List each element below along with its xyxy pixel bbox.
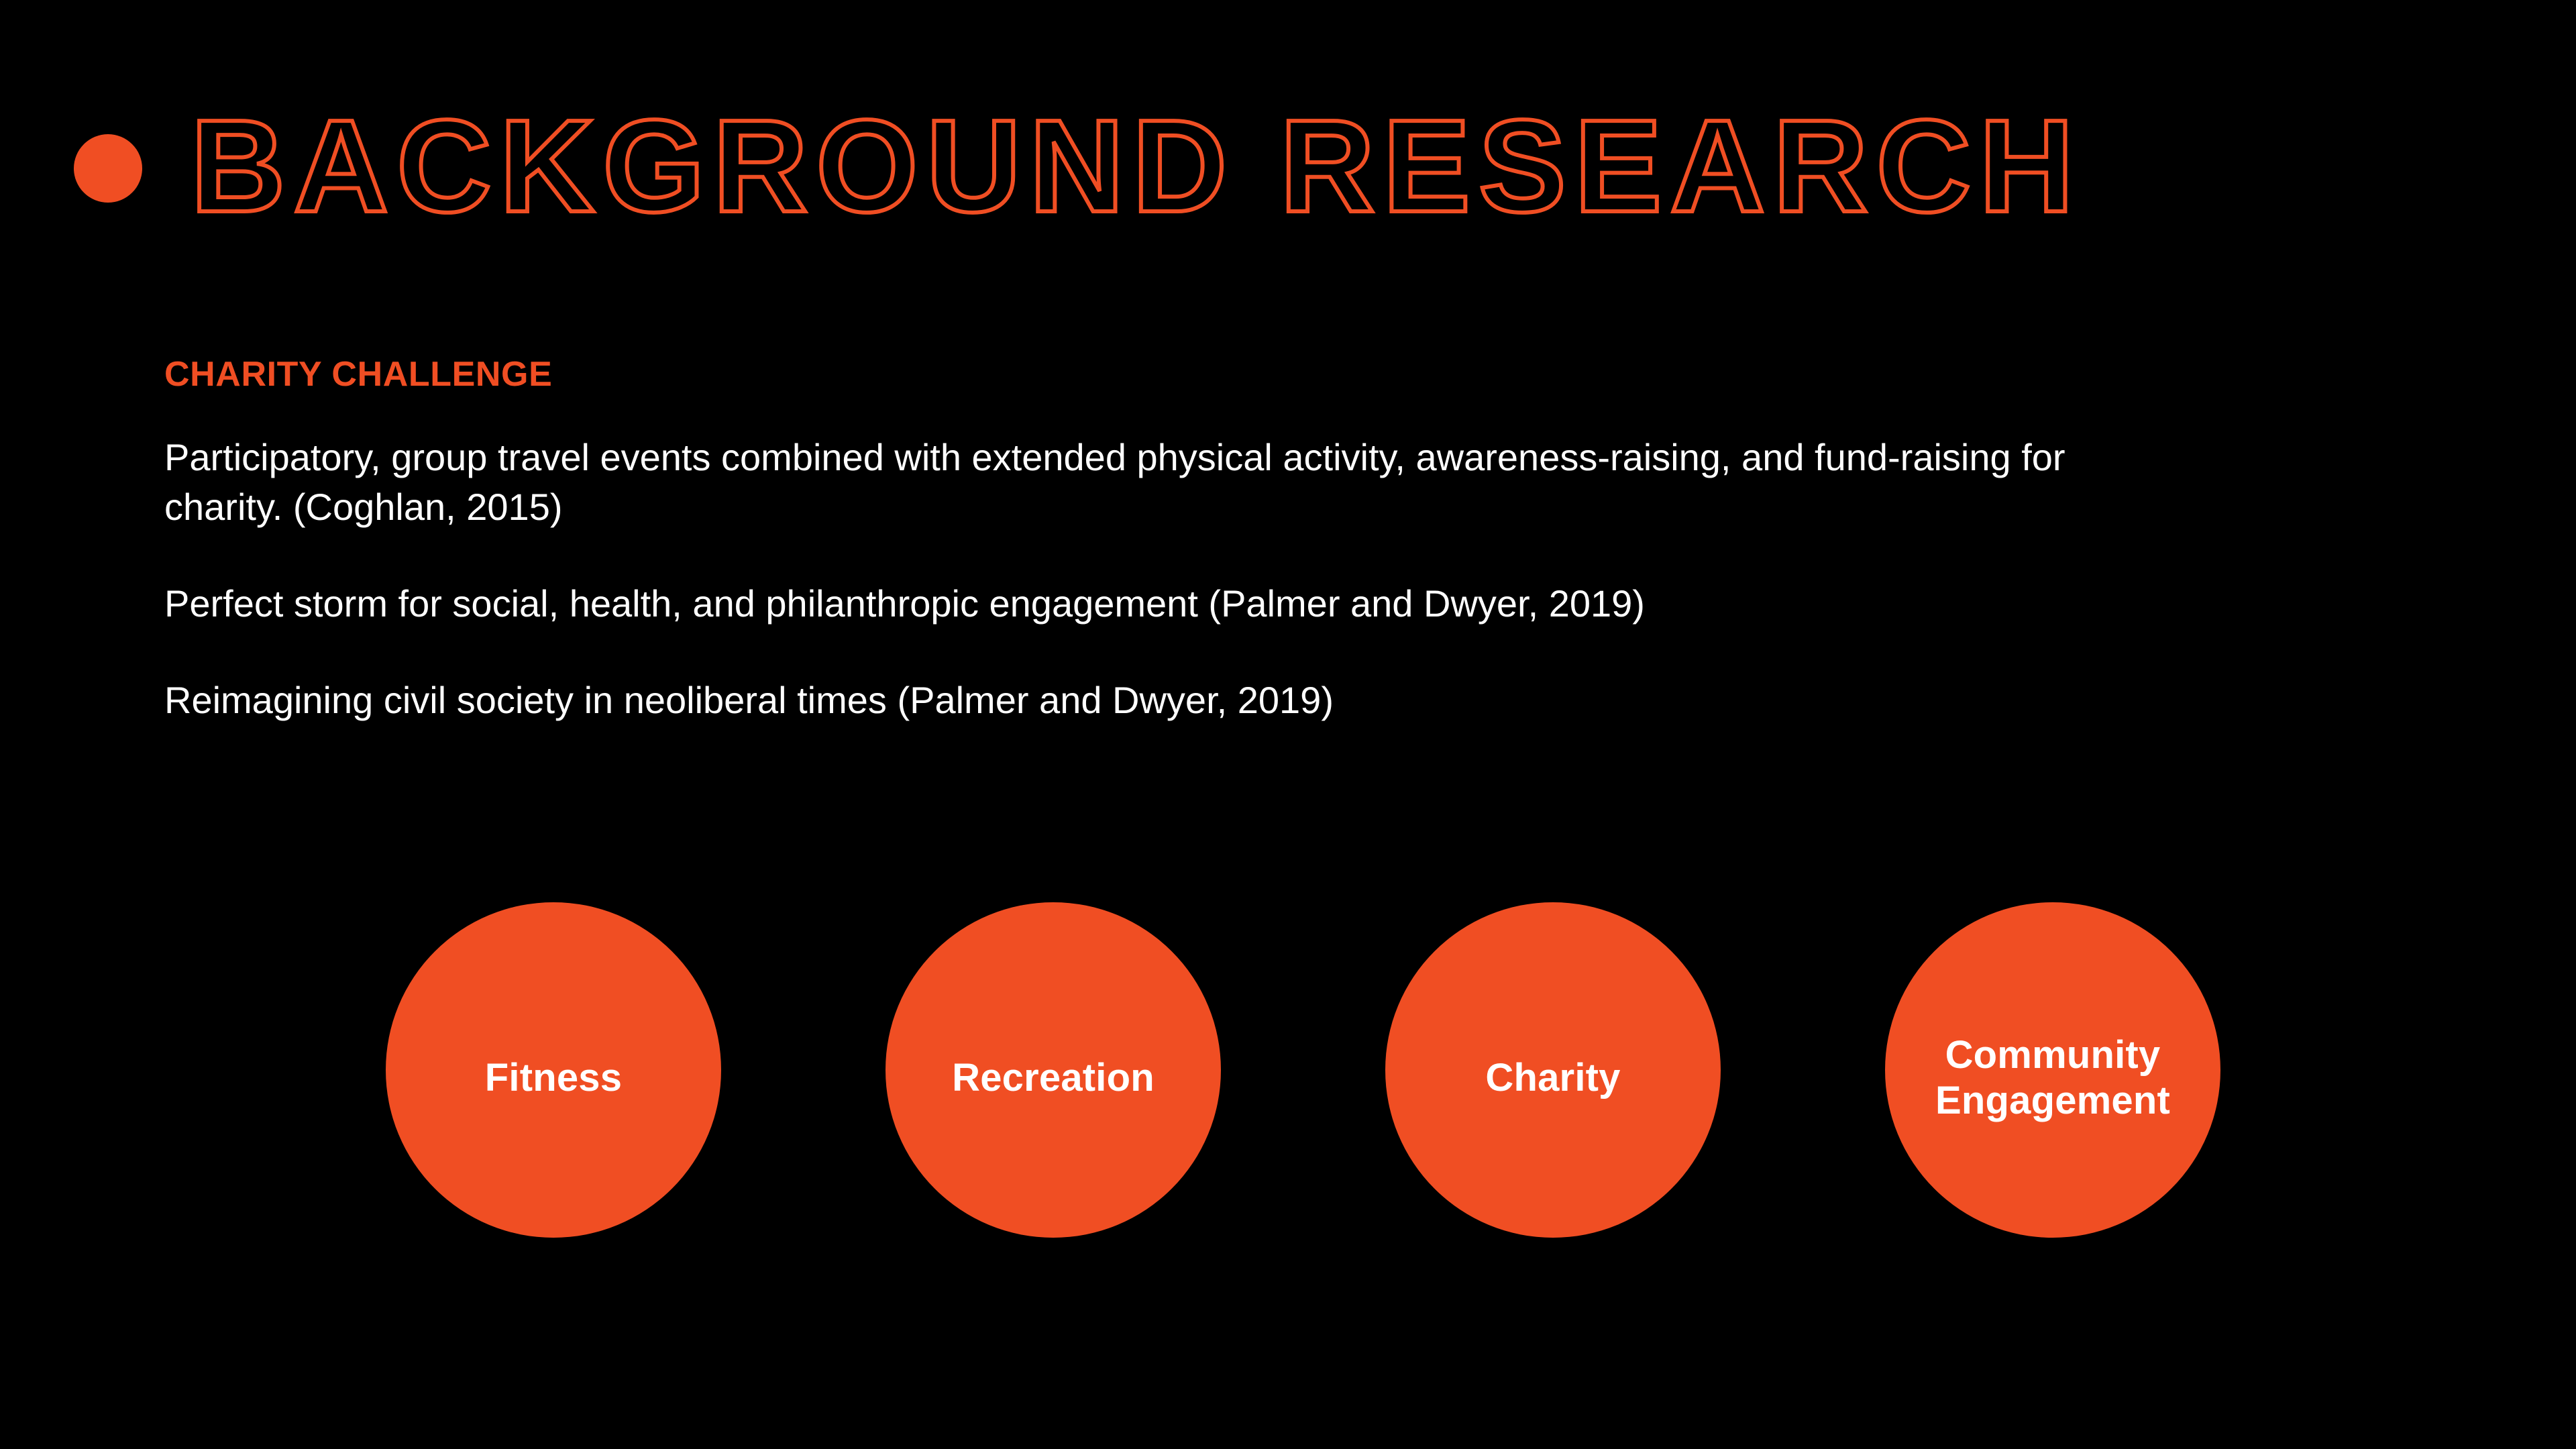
paragraph-definition: Participatory, group travel events combi… [164, 433, 2123, 532]
content-block: CHARITY CHALLENGE Participatory, group t… [164, 356, 2150, 725]
bullet-dot-icon [74, 134, 142, 203]
page-title: BACKGROUND RESEARCH [191, 101, 2082, 232]
paragraph-perfect-storm: Perfect storm for social, health, and ph… [164, 579, 2110, 629]
concept-circle-charity: Charity [1385, 902, 1721, 1238]
concept-circle-community-engagement: Community Engagement [1885, 902, 2220, 1238]
concept-circle-label: Charity [1485, 1055, 1620, 1101]
paragraph-reimagining: Reimagining civil society in neoliberal … [164, 676, 2110, 725]
concept-circle-label: Fitness [485, 1055, 622, 1101]
concept-circle-fitness: Fitness [386, 902, 721, 1238]
concept-circle-row: Fitness Recreation Charity Community Eng… [386, 902, 2220, 1238]
section-heading: CHARITY CHALLENGE [164, 356, 2150, 394]
slide-canvas: BACKGROUND RESEARCH CHARITY CHALLENGE Pa… [0, 0, 2576, 1449]
concept-circle-recreation: Recreation [885, 902, 1221, 1238]
concept-circle-label: Community Engagement [1935, 1032, 2170, 1124]
concept-circle-label: Recreation [952, 1055, 1155, 1101]
slide-title-row: BACKGROUND RESEARCH [74, 99, 2082, 233]
